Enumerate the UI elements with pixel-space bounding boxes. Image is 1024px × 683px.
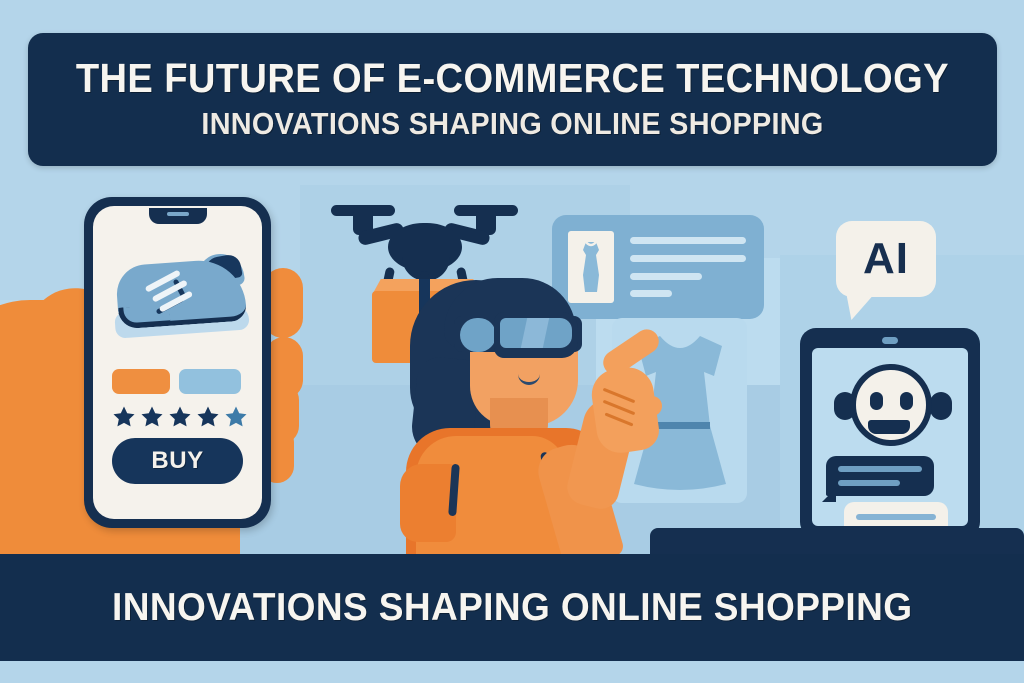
ar-card-line-1 bbox=[630, 237, 746, 244]
robot-eye-right bbox=[900, 392, 913, 410]
chat-bubble-user-line-1 bbox=[856, 514, 936, 520]
star-icon-1 bbox=[112, 405, 136, 429]
laptop-screen[interactable] bbox=[812, 348, 968, 526]
size-chip-blue[interactable] bbox=[179, 369, 241, 394]
robot-ear-right bbox=[930, 392, 952, 420]
ar-card-line-2 bbox=[630, 255, 746, 262]
star-icon-3 bbox=[168, 405, 192, 429]
vr-headset-pad bbox=[460, 318, 496, 352]
smartphone-icon[interactable]: BUY bbox=[84, 197, 271, 528]
robot-mouth bbox=[868, 420, 910, 434]
size-chip-orange[interactable] bbox=[112, 369, 170, 394]
phone-screen[interactable]: BUY bbox=[93, 206, 262, 519]
sneaker-icon bbox=[113, 244, 251, 340]
thumb bbox=[642, 396, 662, 416]
title-banner: THE FUTURE OF E-COMMERCE TECHNOLOGY INNO… bbox=[28, 33, 997, 166]
chat-bubble-bot-line-1 bbox=[838, 466, 922, 472]
sleeve-left bbox=[400, 464, 456, 542]
footer-banner: INNOVATIONS SHAPING ONLINE SHOPPING bbox=[0, 554, 1024, 661]
chat-bubble-bot bbox=[826, 456, 934, 496]
chat-bubble-bot-line-2 bbox=[838, 480, 900, 486]
page-subtitle: INNOVATIONS SHAPING ONLINE SHOPPING bbox=[201, 106, 823, 142]
buy-button[interactable]: BUY bbox=[112, 438, 243, 484]
star-icon-2 bbox=[140, 405, 164, 429]
laptop-camera bbox=[882, 337, 898, 344]
status-badge bbox=[112, 405, 248, 429]
phone-notch bbox=[149, 208, 207, 224]
phone-speaker bbox=[167, 212, 189, 216]
person-icon bbox=[398, 268, 698, 560]
footer-text: INNOVATIONS SHAPING ONLINE SHOPPING bbox=[112, 586, 912, 630]
ai-label: AI bbox=[863, 237, 909, 281]
star-icon-5 bbox=[224, 405, 248, 429]
laptop-base bbox=[650, 528, 1024, 554]
ai-speech-bubble: AI bbox=[836, 221, 936, 297]
page-title: THE FUTURE OF E-COMMERCE TECHNOLOGY bbox=[76, 57, 949, 100]
star-icon-4 bbox=[196, 405, 220, 429]
infographic-poster: AI bbox=[0, 0, 1024, 683]
robot-eye-left bbox=[870, 392, 883, 410]
